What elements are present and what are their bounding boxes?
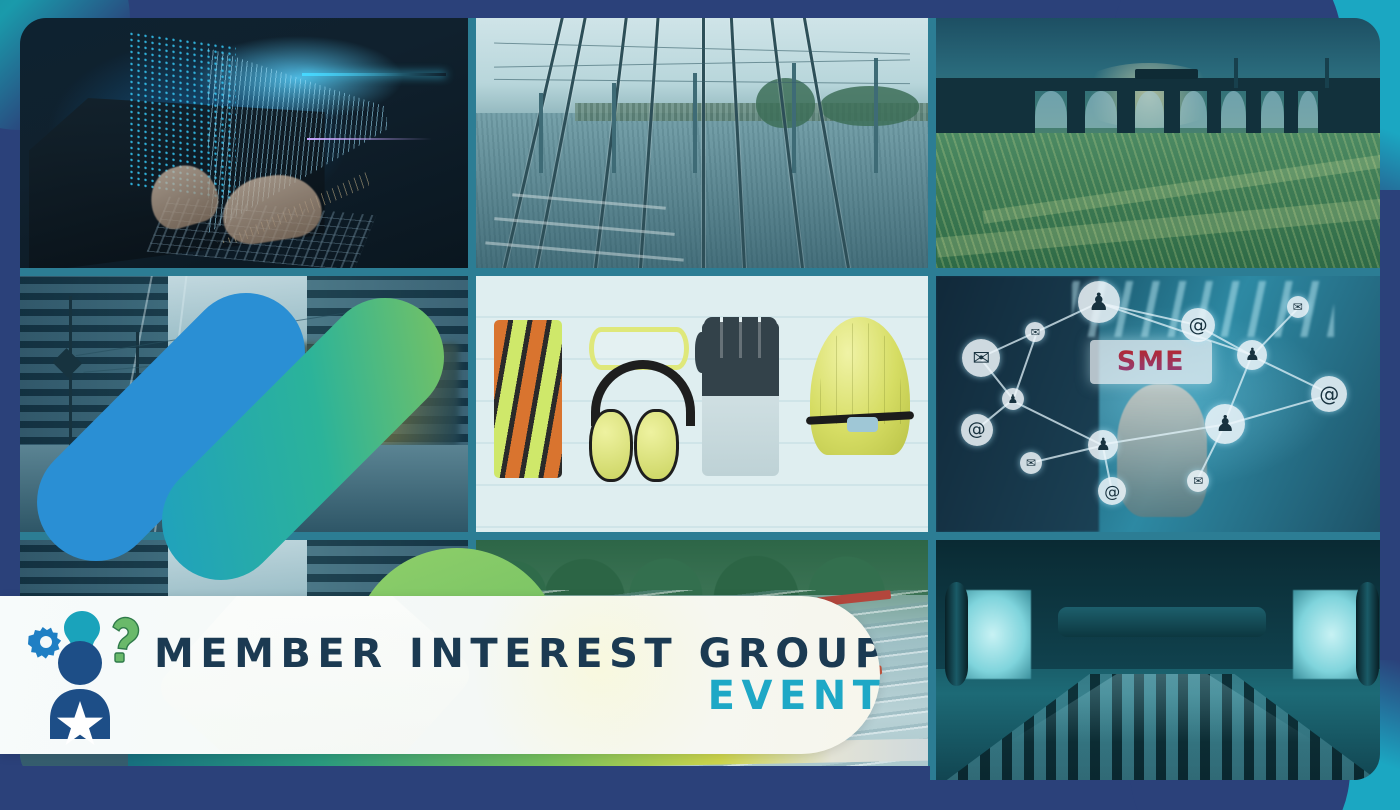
viaduct-pier	[936, 91, 1035, 136]
catenary-mast	[539, 93, 543, 173]
person-node: ♟	[1078, 281, 1120, 323]
person-node: ♟	[1088, 430, 1118, 460]
wheel-right	[1356, 582, 1379, 686]
tree-line	[476, 540, 928, 595]
hard-hat-adjuster	[847, 417, 879, 432]
tile-digital-data	[20, 18, 468, 268]
viaduct-pier	[1207, 91, 1221, 136]
trackside-tree	[820, 86, 919, 126]
ear-defender-cup	[589, 409, 633, 482]
at-node: @	[1311, 376, 1347, 412]
viaduct-arch-opening	[1298, 91, 1318, 129]
viaduct-arch-opening	[1261, 91, 1284, 129]
viaduct-pier	[1164, 91, 1180, 136]
person-node: ♟	[1205, 404, 1245, 444]
tile-railway-tracks	[476, 18, 928, 268]
tile-bogie	[936, 540, 1380, 780]
catenary-mast	[1325, 58, 1329, 88]
catenary-mast	[792, 63, 796, 173]
person-icon	[50, 641, 110, 745]
gear-icon	[28, 627, 61, 659]
glove-fingers	[704, 317, 776, 358]
track-vanishing-point	[936, 674, 1380, 780]
tile-ppe	[476, 276, 928, 532]
at-node: @	[1181, 308, 1215, 342]
envelope-node: ✉	[1287, 296, 1309, 318]
catenary-mast	[1234, 58, 1238, 88]
frame-base-navy	[0, 766, 930, 810]
catenary-mast	[874, 58, 878, 173]
hi-vis-vest	[494, 320, 562, 479]
envelope-node: ✉	[962, 339, 1000, 377]
catenary-mast	[693, 73, 697, 173]
wheel-left	[945, 582, 968, 686]
viaduct-arch-opening	[1221, 91, 1246, 129]
sme-label-text: SME	[1117, 348, 1185, 375]
page-subtitle: EVENT	[154, 675, 880, 717]
viaduct-pier	[1284, 91, 1298, 136]
question-mark-icon	[113, 617, 139, 662]
viaduct-pier	[1318, 91, 1380, 136]
member-interest-group-mark	[16, 605, 148, 745]
ear-defender-cup	[634, 409, 678, 482]
person-node: ♟	[1002, 388, 1024, 410]
envelope-node: ✉	[1020, 452, 1042, 474]
viaduct-pier	[1067, 91, 1085, 136]
at-node: @	[961, 414, 993, 446]
banner-titles: MEMBER INTEREST GROUP EVENT	[154, 633, 880, 718]
catenary-mast	[612, 83, 616, 173]
page-title: MEMBER INTEREST GROUP	[154, 633, 880, 675]
viaduct-deck	[936, 78, 1380, 91]
person-node: ♟	[1237, 340, 1267, 370]
title-banner: MEMBER INTEREST GROUP EVENT	[0, 596, 880, 754]
viaduct-pier	[1117, 91, 1135, 136]
data-beam-blue	[302, 73, 445, 76]
rail	[702, 18, 705, 268]
train-on-viaduct	[1135, 69, 1198, 79]
data-beam-violet	[307, 138, 432, 140]
tile-viaduct	[936, 18, 1380, 268]
tile-sme-network: SME ♟@✉✉✉♟@♟@♟✉♟✉@	[936, 276, 1380, 532]
axle-assembly	[1058, 607, 1266, 637]
envelope-node: ✉	[1187, 470, 1209, 492]
poster-canvas: SME ♟@✉✉✉♟@♟@♟✉♟✉@	[0, 0, 1400, 810]
viaduct-arch-opening	[1035, 91, 1067, 129]
pointing-hand	[1117, 384, 1207, 517]
sme-label: SME	[1090, 340, 1212, 384]
viaduct-pier	[1246, 91, 1262, 136]
